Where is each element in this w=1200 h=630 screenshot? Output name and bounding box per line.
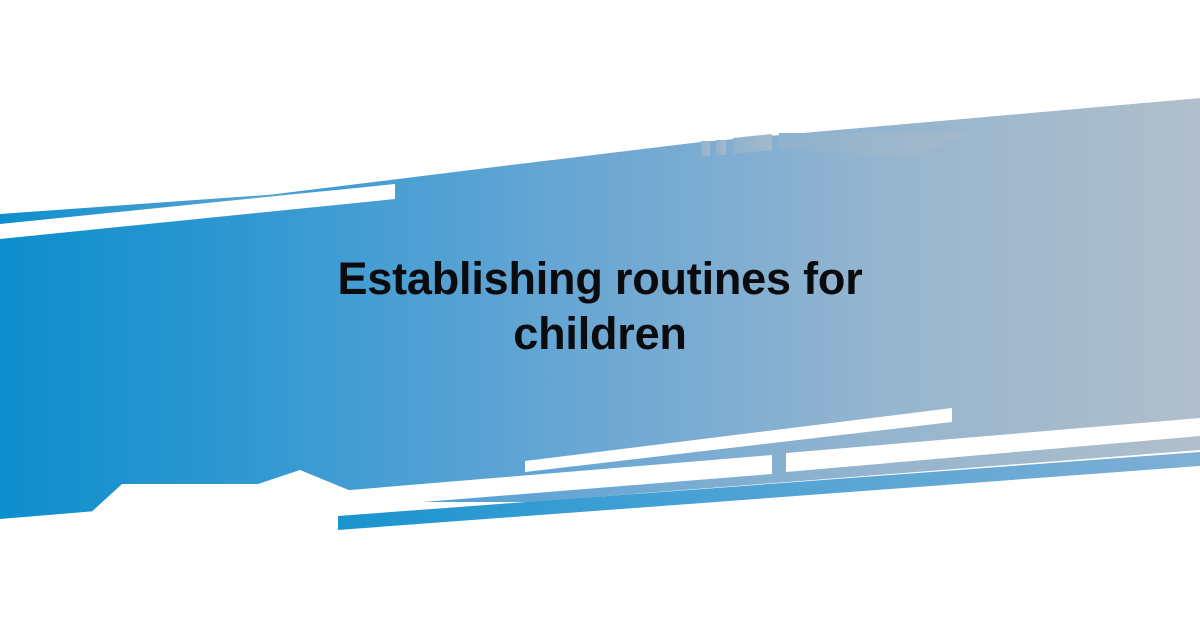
dash-accent-2 (716, 140, 726, 155)
dash-accent-1 (701, 141, 710, 156)
decorative-background-graphic (0, 0, 1200, 630)
banner-card: Establishing routines for children (0, 0, 1200, 630)
